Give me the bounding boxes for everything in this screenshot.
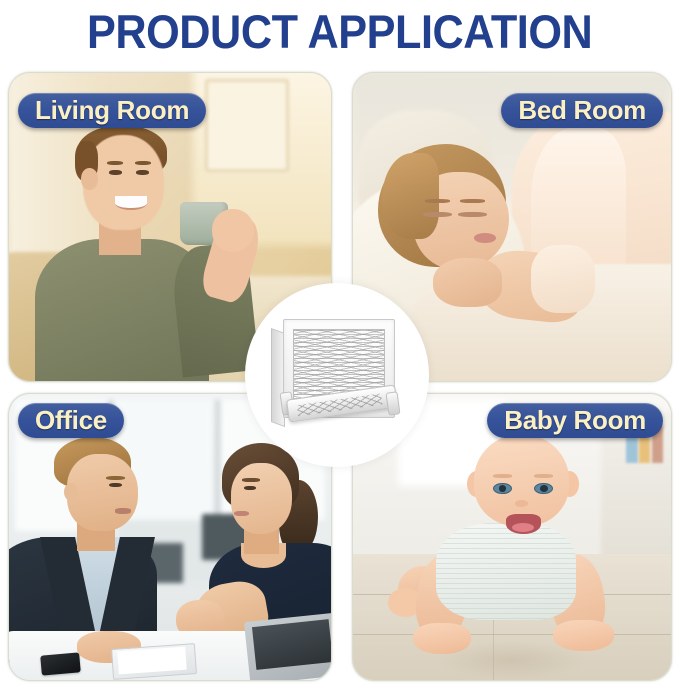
badge-baby-room[interactable]: Baby Room bbox=[487, 403, 663, 438]
badge-living-room-label: Living Room bbox=[35, 95, 189, 126]
page-title: PRODUCT APPLICATION bbox=[0, 0, 679, 62]
badge-living-room[interactable]: Living Room bbox=[18, 93, 206, 128]
badge-baby-room-label: Baby Room bbox=[504, 405, 646, 436]
product-image-circle bbox=[245, 283, 429, 467]
badge-office-label: Office bbox=[35, 405, 107, 436]
product-application-infographic: PRODUCT APPLICATION bbox=[0, 0, 679, 688]
badge-office[interactable]: Office bbox=[18, 403, 124, 438]
desk-phone-icon bbox=[40, 653, 80, 676]
badge-bed-room[interactable]: Bed Room bbox=[501, 93, 663, 128]
air-filter-product-icon bbox=[271, 316, 403, 434]
page-title-text: PRODUCT APPLICATION bbox=[87, 4, 592, 59]
badge-bed-room-label: Bed Room bbox=[518, 95, 646, 126]
